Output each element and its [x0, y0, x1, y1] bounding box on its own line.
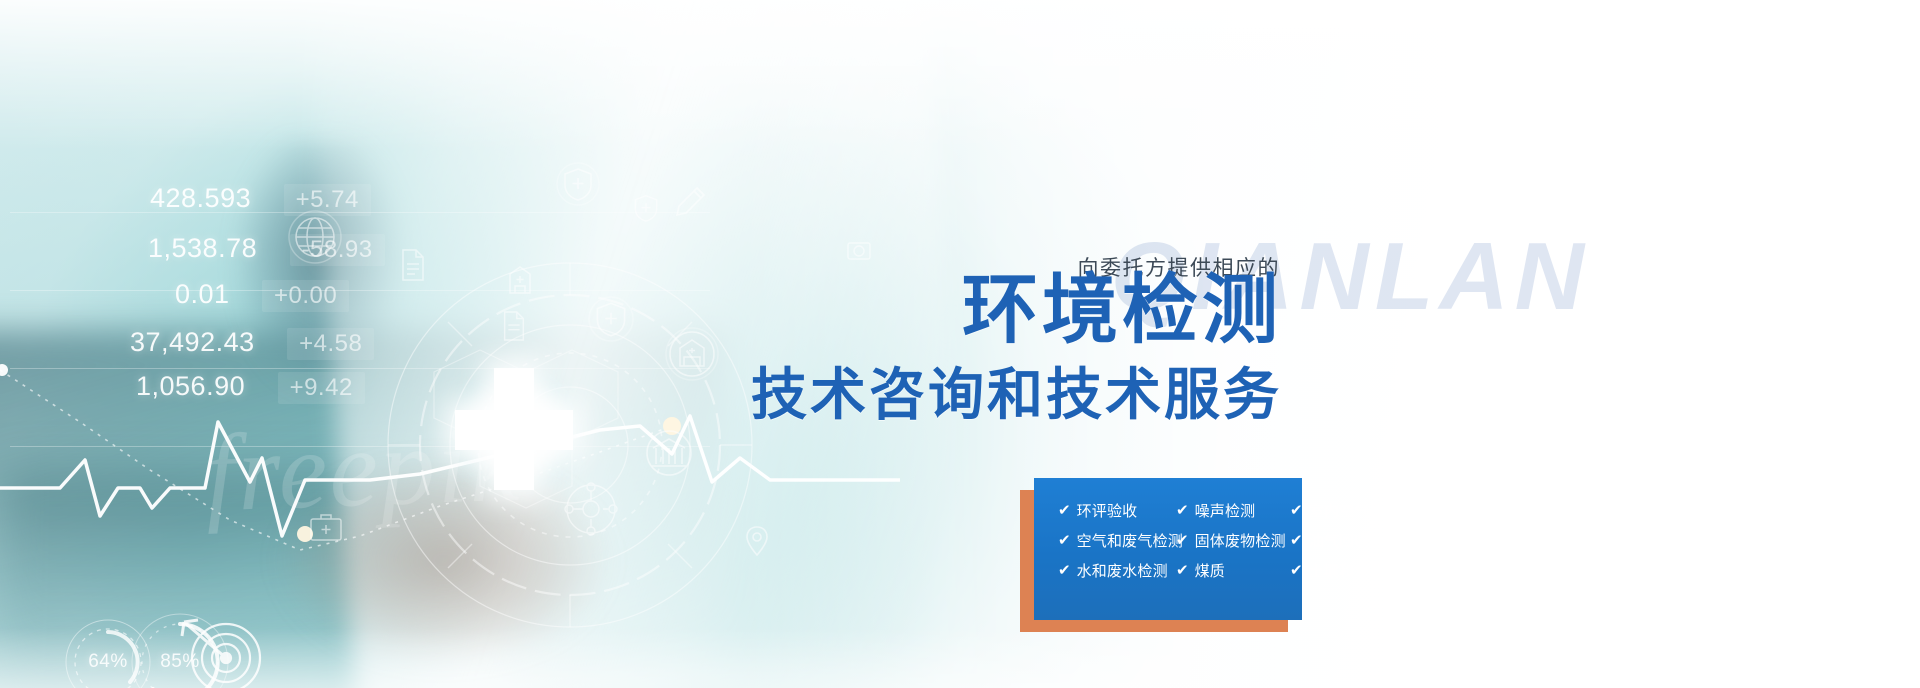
service-label: 土壤和水系沉积物检测 — [1309, 560, 1461, 581]
service-item[interactable]: ✔ 环评验收 — [1058, 500, 1176, 521]
service-item[interactable]: ✔ 煤质 — [1176, 560, 1290, 581]
document-icon — [398, 248, 428, 282]
check-icon: ✔ — [1058, 503, 1071, 518]
service-item[interactable]: ✔ 室内空气检测 — [1290, 500, 1461, 521]
check-icon: ✔ — [1290, 533, 1303, 548]
bank-classical-icon — [640, 424, 698, 482]
service-label: 固体废物检测 — [1195, 530, 1286, 551]
service-item[interactable]: ✔ 土壤和水系沉积物检测 — [1290, 560, 1461, 581]
service-label: 噪声检测 — [1195, 500, 1256, 521]
service-label: 环评验收 — [1077, 500, 1138, 521]
hospital-building-icon — [664, 326, 720, 382]
globe-icon — [286, 208, 344, 266]
service-item[interactable]: ✔ 油气回收检测 — [1290, 530, 1461, 551]
shield-cross-icon — [556, 162, 600, 206]
check-icon: ✔ — [1176, 533, 1189, 548]
shield-cross-icon — [628, 190, 664, 226]
service-item[interactable]: ✔ 固体废物检测 — [1176, 530, 1290, 551]
ticker-value: 0.01 — [175, 279, 230, 310]
check-icon: ✔ — [1058, 533, 1071, 548]
check-icon: ✔ — [1176, 563, 1189, 578]
network-nodes-icon — [560, 478, 622, 540]
stock-watermark: freepik — [203, 400, 523, 538]
check-icon: ✔ — [1290, 563, 1303, 578]
service-label: 油气回收检测 — [1309, 530, 1400, 551]
service-label: 煤质 — [1195, 560, 1225, 581]
environmental-testing-banner: 428.593 +5.74 1,538.78 -58.93 0.01 +0.00… — [0, 0, 1920, 688]
hospital-building-icon — [503, 263, 537, 297]
ticker-value: 428.593 — [150, 183, 251, 214]
document-icon — [500, 310, 528, 342]
services-card-wrapper: ✔ 环评验收 ✔ 噪声检测 ✔ 室内空气检测 ✔ 空气和废气检测 ✔ 固体 — [1020, 478, 1320, 638]
page-subtitle: 技术咨询和技术服务 — [751, 368, 1282, 424]
service-label: 室内空气检测 — [1309, 500, 1400, 521]
service-item[interactable]: ✔ 噪声检测 — [1176, 500, 1290, 521]
check-icon: ✔ — [1176, 503, 1189, 518]
ticker-value: 1,538.78 — [148, 233, 257, 264]
service-label: 空气和废气检测 — [1077, 530, 1183, 551]
check-icon: ✔ — [1290, 503, 1303, 518]
service-item[interactable]: ✔ 水和废水检测 — [1058, 560, 1176, 581]
page-title: 环境检测 — [962, 272, 1282, 348]
ticker-row: 0.01 +0.00 — [175, 279, 349, 312]
service-label: 水和废水检测 — [1077, 560, 1168, 581]
check-icon: ✔ — [1058, 563, 1071, 578]
service-item[interactable]: ✔ 空气和废气检测 — [1058, 530, 1176, 551]
services-grid: ✔ 环评验收 ✔ 噪声检测 ✔ 室内空气检测 ✔ 空气和废气检测 ✔ 固体 — [1058, 500, 1292, 581]
pen-edit-icon — [672, 182, 710, 220]
shield-cross-icon — [588, 296, 634, 342]
services-card: ✔ 环评验收 ✔ 噪声检测 ✔ 室内空气检测 ✔ 空气和废气检测 ✔ 固体 — [1034, 478, 1302, 620]
